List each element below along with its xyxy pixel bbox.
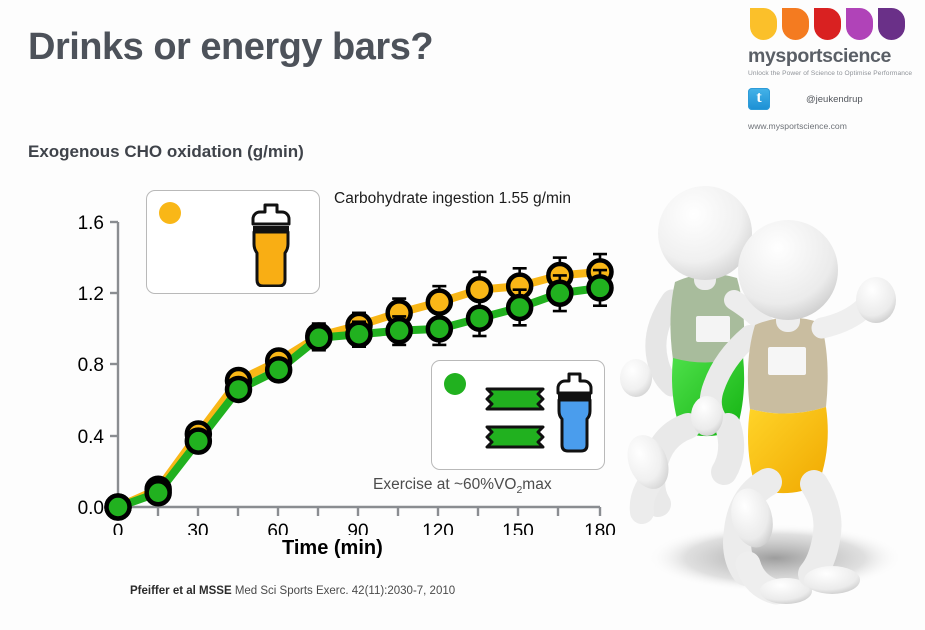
data-point [147,481,170,504]
data-point [107,496,130,519]
data-point [428,291,451,314]
x-tick-30: 30 [187,521,208,535]
slide-canvas: Drinks or energy bars? Exogenous CHO oxi… [0,0,925,630]
data-point [187,430,210,453]
citation-journal: Med Sci Sports Exerc. 42(11):2030-7, 201… [232,585,456,597]
twitter-handle: @jeukendrup [806,94,863,105]
y-tick-labels: 1.6 1.2 0.8 0.4 0.0 [78,213,105,519]
x-tick-60: 60 [267,521,288,535]
legend-marker-drink [159,202,181,224]
y-tick-0.4: 0.4 [78,427,105,448]
x-tick-90: 90 [347,521,368,535]
energy-bars-icon [476,371,554,463]
annotation-ingestion: Carbohydrate ingestion 1.55 g/min [334,190,571,208]
sports-bottle-orange-icon [243,199,303,287]
logo-leaf-1 [750,8,777,40]
brand-name: mysportscience [748,45,918,68]
y-tick-1.6: 1.6 [78,213,104,234]
brand-tagline: Unlock the Power of Science to Optimise … [748,70,918,77]
logo-leaf-4 [846,8,873,40]
legend-card-drink [146,190,320,294]
data-point [508,296,531,319]
logo-leaf-5 [878,8,905,40]
twitter-icon[interactable]: t [748,88,770,110]
logo-leaf-2 [782,8,809,40]
y-tick-1.2: 1.2 [78,284,104,305]
logo-leaf-3 [814,8,841,40]
social-row: t @jeukendrup [748,88,918,110]
runners-illustration [600,150,925,630]
data-point [348,323,371,346]
data-point [548,282,571,305]
x-tick-0: 0 [113,521,124,535]
citation-authors: Pfeiffer et al MSSE [130,585,232,597]
legend-card-bars [431,360,605,470]
annotation-exercise-pre: Exercise at ~60%VO [373,476,516,493]
page-title: Drinks or energy bars? [28,26,433,69]
data-point [227,378,250,401]
annotation-exercise: Exercise at ~60%VO2max [373,476,552,496]
chart-subtitle: Exogenous CHO oxidation (g/min) [28,142,304,162]
annotation-exercise-post: max [522,476,551,493]
twitter-glyph: t [748,89,770,107]
data-point [468,278,491,301]
data-point [307,326,330,349]
y-tick-0.0: 0.0 [78,498,104,519]
x-axis-title: Time (min) [282,537,383,560]
citation: Pfeiffer et al MSSE Med Sci Sports Exerc… [130,585,455,597]
logo-shapes [750,8,918,40]
data-point [388,319,411,342]
x-tick-labels: 0 30 60 90 120 150 180 [113,521,616,535]
brand-logo-block: mysportscience Unlock the Power of Scien… [748,8,918,131]
legend-marker-bars [444,373,466,395]
data-point [267,358,290,381]
x-axis [118,507,600,516]
y-axis [110,222,118,507]
website-url: www.mysportscience.com [748,121,918,131]
data-point [468,307,491,330]
x-tick-150: 150 [502,521,534,535]
sports-bottle-blue-icon [550,369,604,461]
data-point [428,317,451,340]
y-tick-0.8: 0.8 [78,355,104,376]
x-tick-120: 120 [422,521,454,535]
